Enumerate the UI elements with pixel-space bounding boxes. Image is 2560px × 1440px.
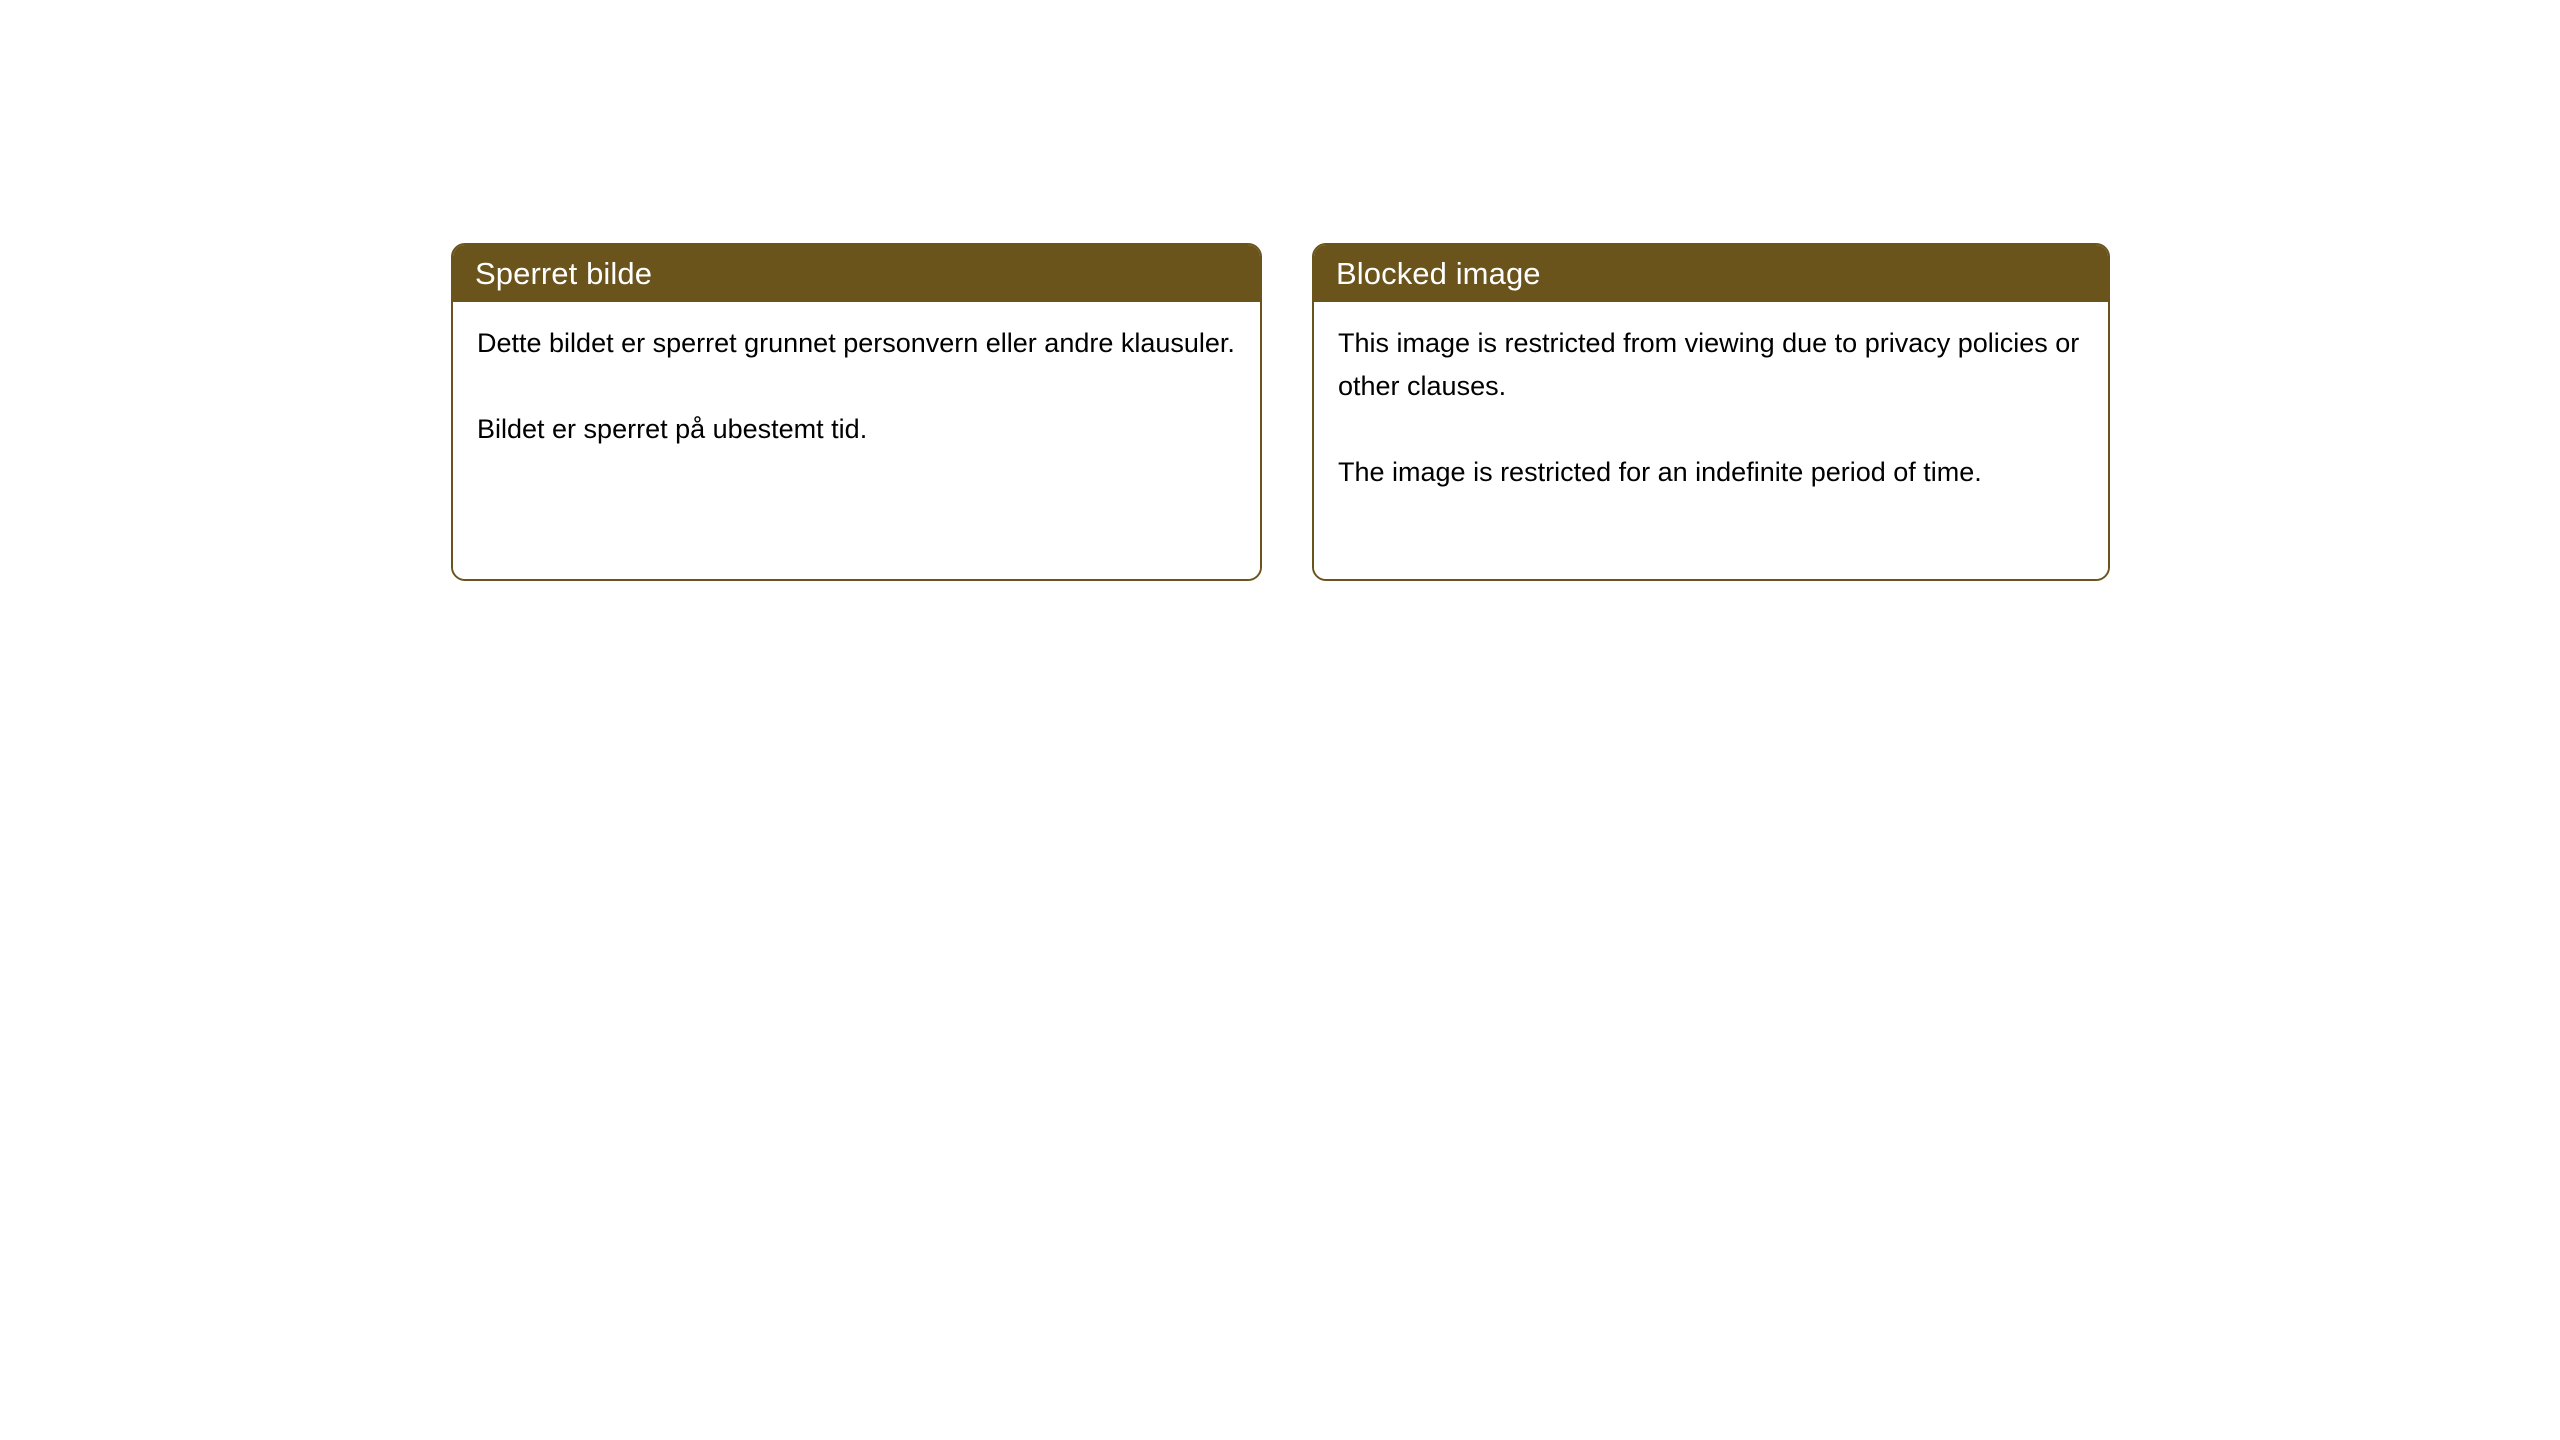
card-title-norwegian: Sperret bilde: [475, 256, 652, 292]
card-title-english: Blocked image: [1336, 256, 1541, 292]
card-paragraph-primary-norwegian: Dette bildet er sperret grunnet personve…: [477, 322, 1236, 365]
blocked-image-card-norwegian: Sperret bilde Dette bildet er sperret gr…: [451, 243, 1262, 581]
card-paragraph-secondary-english: The image is restricted for an indefinit…: [1338, 451, 2084, 494]
card-header-norwegian: Sperret bilde: [453, 245, 1260, 302]
card-body-norwegian: Dette bildet er sperret grunnet personve…: [453, 302, 1260, 579]
card-body-english: This image is restricted from viewing du…: [1314, 302, 2108, 579]
blocked-image-card-english: Blocked image This image is restricted f…: [1312, 243, 2110, 581]
card-paragraph-secondary-norwegian: Bildet er sperret på ubestemt tid.: [477, 408, 1236, 451]
blocked-image-notice-group: Sperret bilde Dette bildet er sperret gr…: [451, 243, 2110, 581]
paragraph-spacer-norwegian: [477, 365, 1236, 408]
card-header-english: Blocked image: [1314, 245, 2108, 302]
paragraph-spacer-english: [1338, 408, 2084, 451]
card-paragraph-primary-english: This image is restricted from viewing du…: [1338, 322, 2084, 408]
